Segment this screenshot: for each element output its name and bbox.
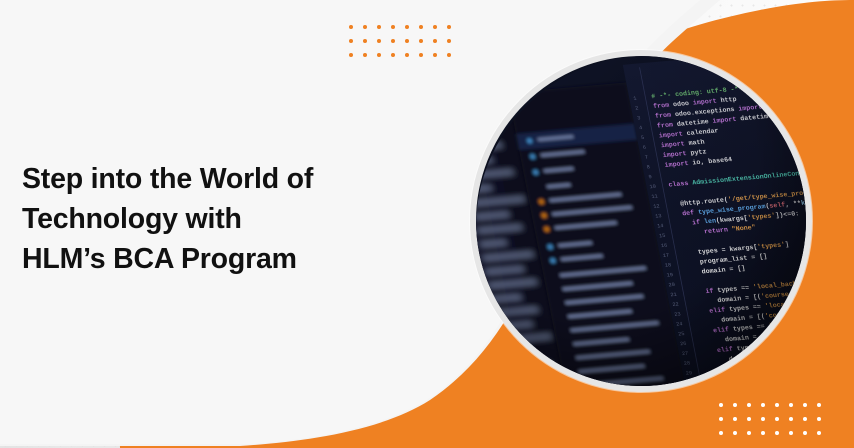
decorative-dot (728, 398, 741, 411)
decorative-dot (728, 426, 741, 439)
code-photo-image: 1 2 3 4 5 6 7 8 9 10 11 12 13 (476, 56, 806, 386)
decorative-dot (442, 20, 455, 33)
decorative-dot (798, 412, 811, 425)
decorative-dot (714, 412, 727, 425)
decorative-dot (358, 20, 371, 33)
decorative-dot (442, 34, 455, 47)
decorative-dot (428, 34, 441, 47)
decorative-dot (386, 20, 399, 33)
code-photo-circle: 1 2 3 4 5 6 7 8 9 10 11 12 13 (470, 50, 812, 392)
decorative-dot (770, 412, 783, 425)
decorative-dot (770, 426, 783, 439)
decorative-dot (372, 20, 385, 33)
dot-grid-bottom-white (714, 398, 826, 440)
decorative-dot (400, 48, 413, 61)
decorative-dot (400, 20, 413, 33)
decorative-dot (442, 48, 455, 61)
decorative-dot (728, 412, 741, 425)
decorative-dot (414, 20, 427, 33)
decorative-dot (428, 20, 441, 33)
decorative-dot (784, 398, 797, 411)
decorative-dot (812, 398, 825, 411)
decorative-dot (742, 426, 755, 439)
decorative-dot (756, 398, 769, 411)
decorative-dot (386, 48, 399, 61)
decorative-dot (742, 412, 755, 425)
decorative-dot (756, 426, 769, 439)
decorative-dot (372, 48, 385, 61)
decorative-dot (798, 426, 811, 439)
decorative-dot (414, 48, 427, 61)
decorative-dot (344, 20, 357, 33)
decorative-dot (784, 426, 797, 439)
decorative-dot (812, 412, 825, 425)
decorative-dot (344, 48, 357, 61)
decorative-dot (770, 398, 783, 411)
decorative-dot (812, 426, 825, 439)
decorative-dot (756, 412, 769, 425)
decorative-dot (714, 426, 727, 439)
decorative-dot (798, 398, 811, 411)
dot-grid-top-orange (344, 20, 456, 62)
decorative-dot (372, 34, 385, 47)
promo-banner: 1 2 3 4 5 6 7 8 9 10 11 12 13 (0, 0, 854, 448)
decorative-dot (400, 34, 413, 47)
page-title: Step into the World of Technology with H… (22, 159, 432, 279)
decorative-dot (428, 48, 441, 61)
decorative-dot (414, 34, 427, 47)
decorative-dot (714, 398, 727, 411)
decorative-dot (386, 34, 399, 47)
decorative-dot (784, 412, 797, 425)
decorative-dot (742, 398, 755, 411)
decorative-dot (344, 34, 357, 47)
decorative-dot (358, 34, 371, 47)
decorative-dot (358, 48, 371, 61)
